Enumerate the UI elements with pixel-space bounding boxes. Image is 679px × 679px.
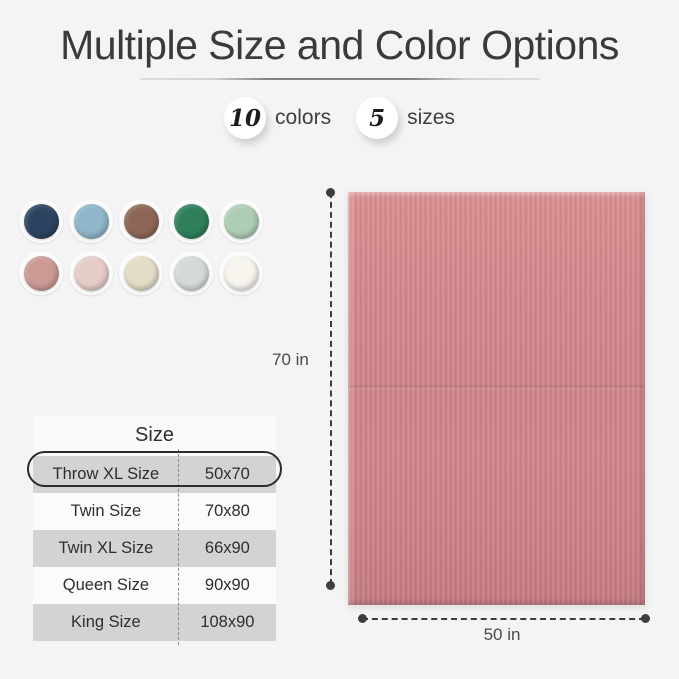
size-table-header-row: Size bbox=[33, 416, 276, 456]
title-divider bbox=[140, 78, 540, 80]
table-row[interactable]: Throw XL Size 50x70 bbox=[33, 456, 276, 493]
badge-colors-value: 10 bbox=[224, 97, 266, 139]
blanket-fold-line bbox=[348, 385, 645, 390]
size-dimensions: 66x90 bbox=[179, 530, 276, 567]
badge-row: 10 colors 5 sizes bbox=[0, 97, 679, 139]
color-swatch-navy[interactable] bbox=[18, 198, 64, 244]
size-name: Queen Size bbox=[33, 567, 179, 604]
color-swatch-brown[interactable] bbox=[118, 198, 164, 244]
height-measure-line bbox=[330, 192, 332, 585]
width-measure-dot-right bbox=[641, 614, 650, 623]
blanket-bottom-edge bbox=[348, 598, 645, 605]
blanket-product-image bbox=[348, 192, 645, 605]
blanket-right-edge bbox=[637, 192, 645, 605]
color-swatch-panel bbox=[18, 198, 270, 302]
width-measure-dot-left bbox=[358, 614, 367, 623]
width-measure-line bbox=[362, 618, 645, 620]
size-table-header: Size bbox=[33, 416, 276, 456]
blanket-top-edge bbox=[348, 192, 645, 198]
color-swatch-blush-pink[interactable] bbox=[68, 250, 114, 296]
color-swatch-row-2 bbox=[18, 250, 270, 296]
table-row[interactable]: Queen Size 90x90 bbox=[33, 567, 276, 604]
product-infographic: Multiple Size and Color Options 10 color… bbox=[0, 0, 679, 679]
size-name: Throw XL Size bbox=[33, 456, 179, 493]
color-swatch-dusty-rose[interactable] bbox=[18, 250, 64, 296]
height-label: 70 in bbox=[272, 350, 309, 370]
color-swatch-sage-green[interactable] bbox=[218, 198, 264, 244]
size-dimensions: 70x80 bbox=[179, 493, 276, 530]
height-measure-dot-top bbox=[326, 188, 335, 197]
badge-colors-label: colors bbox=[275, 106, 331, 130]
size-name: Twin Size bbox=[33, 493, 179, 530]
width-label: 50 in bbox=[0, 625, 679, 645]
size-table-column-divider bbox=[178, 449, 179, 645]
color-swatch-light-gray[interactable] bbox=[168, 250, 214, 296]
size-table: Size Throw XL Size 50x70 Twin Size 70x80… bbox=[33, 416, 276, 641]
badge-sizes: 5 sizes bbox=[356, 97, 455, 139]
size-dimensions: 50x70 bbox=[179, 456, 276, 493]
size-dimensions: 90x90 bbox=[179, 567, 276, 604]
color-swatch-row-1 bbox=[18, 198, 270, 244]
color-swatch-cream[interactable] bbox=[118, 250, 164, 296]
badge-sizes-value: 5 bbox=[356, 97, 398, 139]
color-swatch-forest-green[interactable] bbox=[168, 198, 214, 244]
size-name: Twin XL Size bbox=[33, 530, 179, 567]
badge-colors: 10 colors bbox=[224, 97, 347, 139]
badge-sizes-label: sizes bbox=[407, 106, 455, 130]
height-measure-dot-bottom bbox=[326, 581, 335, 590]
table-row[interactable]: Twin Size 70x80 bbox=[33, 493, 276, 530]
blanket-left-edge bbox=[348, 192, 355, 605]
table-row[interactable]: Twin XL Size 66x90 bbox=[33, 530, 276, 567]
color-swatch-white[interactable] bbox=[218, 250, 264, 296]
page-title: Multiple Size and Color Options bbox=[0, 22, 679, 69]
color-swatch-dusty-blue[interactable] bbox=[68, 198, 114, 244]
